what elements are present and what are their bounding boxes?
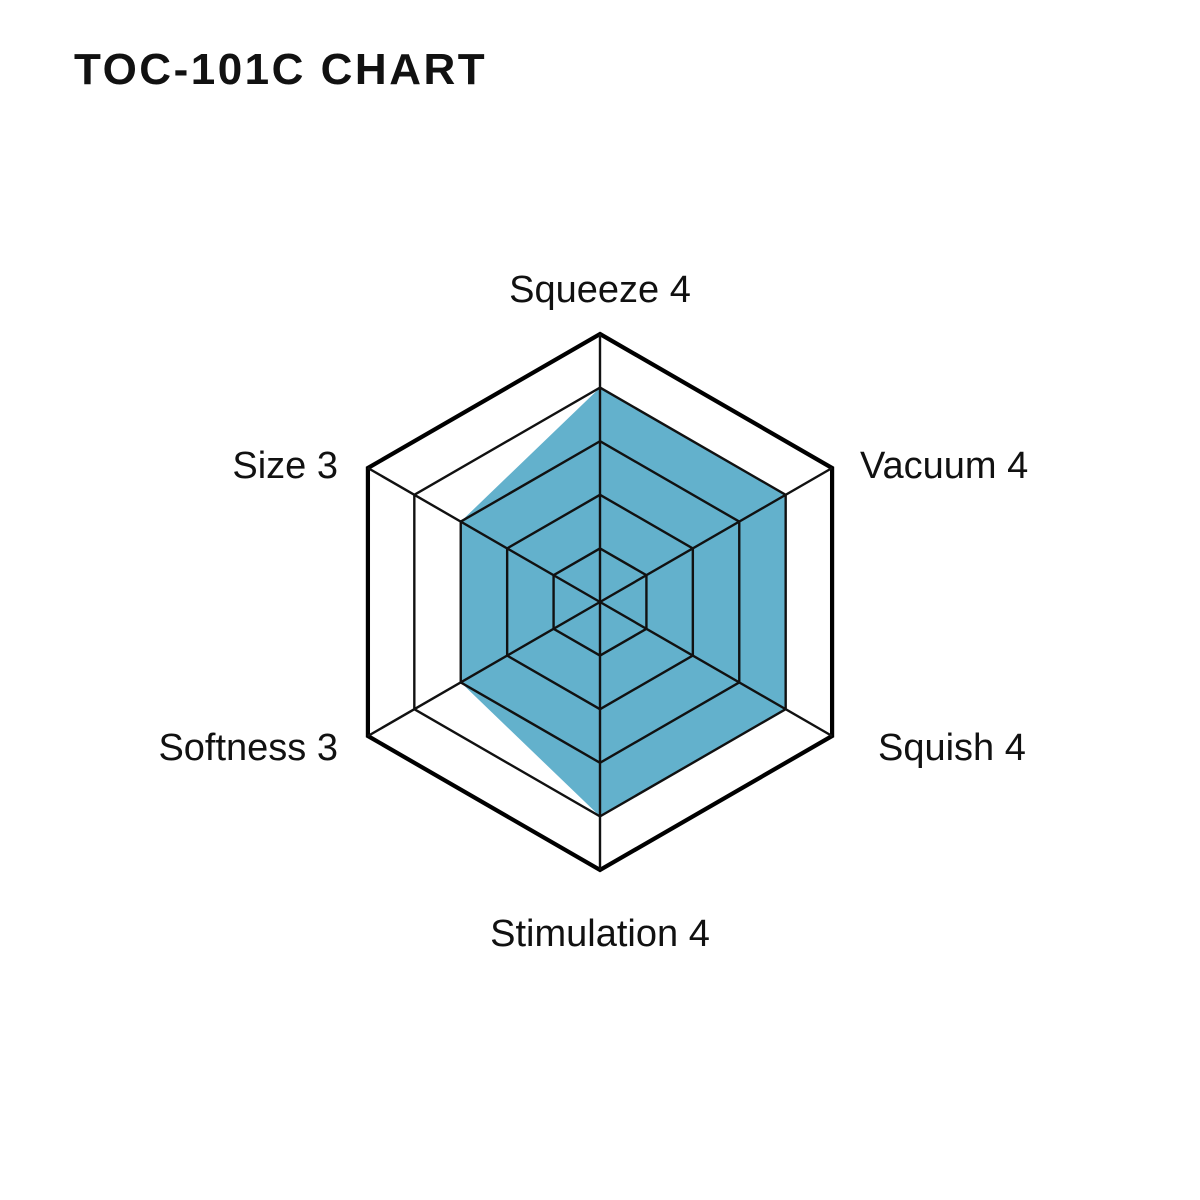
chart-page: TOC-101C CHART Squeeze 4Vacuum 4Squish 4… <box>0 0 1200 1200</box>
axis-label-softness: Softness 3 <box>158 727 338 769</box>
radar-chart: Squeeze 4Vacuum 4Squish 4Stimulation 4So… <box>0 0 1200 1200</box>
radar-data-polygon <box>461 388 786 817</box>
axis-label-size: Size 3 <box>232 445 338 487</box>
radar-fill-group <box>461 388 786 817</box>
axis-label-vacuum: Vacuum 4 <box>860 445 1028 487</box>
axis-label-squeeze: Squeeze 4 <box>509 269 691 311</box>
axis-label-stimulation: Stimulation 4 <box>490 913 710 955</box>
axis-label-squish: Squish 4 <box>878 727 1026 769</box>
